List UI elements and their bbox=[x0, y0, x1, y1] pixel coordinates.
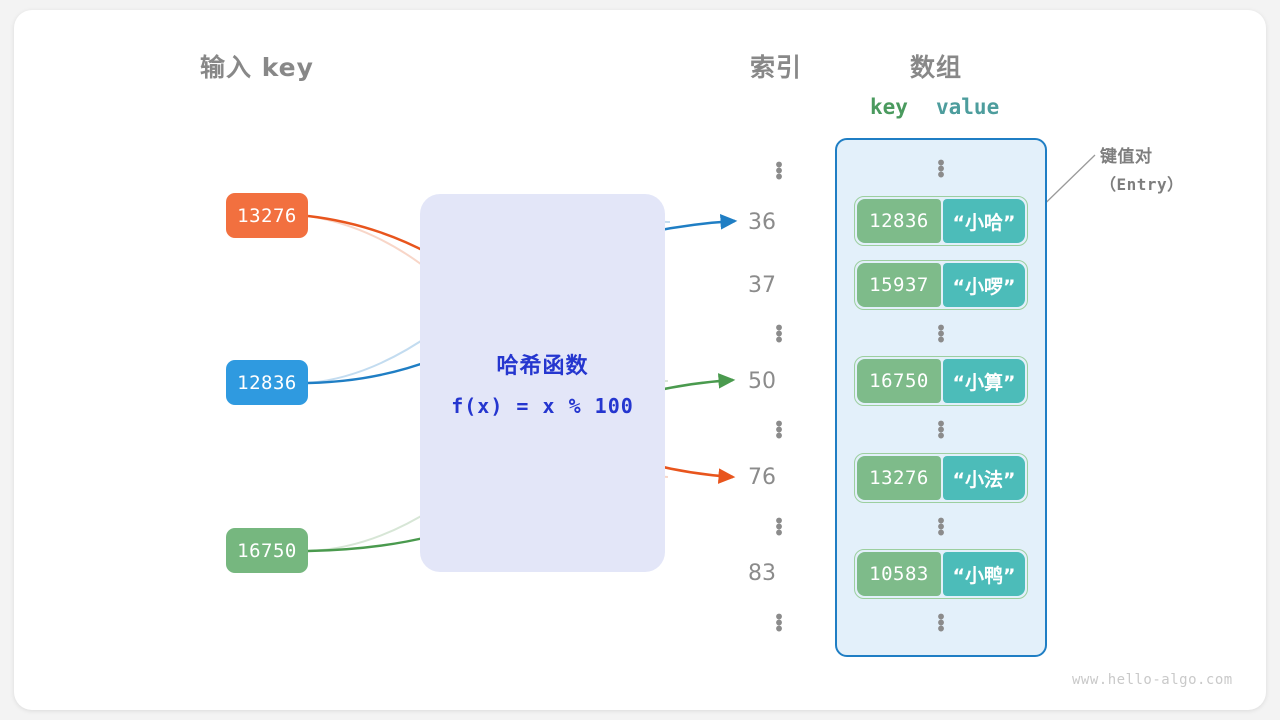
index-label-76: 76 bbox=[748, 465, 808, 490]
index-dots-bottom: ••• bbox=[772, 614, 786, 632]
column-label-value: value bbox=[936, 95, 999, 119]
array-dots-top: ••• bbox=[934, 160, 948, 178]
index-label-36: 36 bbox=[748, 210, 808, 235]
array-dots-2: ••• bbox=[934, 325, 948, 343]
entry-15937[interactable]: 15937 “小啰” bbox=[854, 260, 1028, 310]
annotation-line-2: （Entry） bbox=[1100, 171, 1250, 199]
index-label-37: 37 bbox=[748, 273, 808, 298]
curve-13276 bbox=[308, 216, 430, 254]
input-key-12836[interactable]: 12836 bbox=[226, 360, 308, 405]
index-dots-3: ••• bbox=[772, 421, 786, 439]
entry-key: 12836 bbox=[857, 199, 941, 243]
diagram-canvas: 输入 key 索引 数组 key value 13276 12836 16750… bbox=[0, 0, 1280, 720]
index-dots-4: ••• bbox=[772, 518, 786, 536]
entry-annotation: 键值对 （Entry） bbox=[1100, 143, 1250, 199]
hash-function-box bbox=[420, 194, 665, 572]
index-dots-top: ••• bbox=[772, 162, 786, 180]
entry-value: “小啰” bbox=[943, 263, 1025, 307]
heading-index: 索引 bbox=[750, 48, 802, 84]
entry-16750[interactable]: 16750 “小算” bbox=[854, 356, 1028, 406]
array-dots-4: ••• bbox=[934, 518, 948, 536]
watermark: www.hello-algo.com bbox=[1072, 672, 1233, 688]
entry-13276[interactable]: 13276 “小法” bbox=[854, 453, 1028, 503]
input-key-13276[interactable]: 13276 bbox=[226, 193, 308, 238]
array-dots-3: ••• bbox=[934, 421, 948, 439]
entry-key: 10583 bbox=[857, 552, 941, 596]
index-dots-2: ••• bbox=[772, 325, 786, 343]
entry-10583[interactable]: 10583 “小鸭” bbox=[854, 549, 1028, 599]
array-dots-bottom: ••• bbox=[934, 614, 948, 632]
index-label-50: 50 bbox=[748, 369, 808, 394]
entry-key: 15937 bbox=[857, 263, 941, 307]
entry-key: 16750 bbox=[857, 359, 941, 403]
entry-value: “小算” bbox=[943, 359, 1025, 403]
column-label-key: key bbox=[870, 95, 908, 119]
heading-array: 数组 bbox=[910, 48, 962, 84]
entry-12836[interactable]: 12836 “小哈” bbox=[854, 196, 1028, 246]
entry-value: “小哈” bbox=[943, 199, 1025, 243]
annotation-line-1: 键值对 bbox=[1100, 143, 1250, 171]
hash-function-title: 哈希函数 bbox=[420, 348, 665, 380]
entry-value: “小鸭” bbox=[943, 552, 1025, 596]
index-label-83: 83 bbox=[748, 561, 808, 586]
hash-function-formula: f(x) = x % 100 bbox=[420, 394, 665, 418]
heading-input-key: 输入 key bbox=[200, 48, 314, 84]
input-key-16750[interactable]: 16750 bbox=[226, 528, 308, 573]
entry-value: “小法” bbox=[943, 456, 1025, 500]
entry-key: 13276 bbox=[857, 456, 941, 500]
